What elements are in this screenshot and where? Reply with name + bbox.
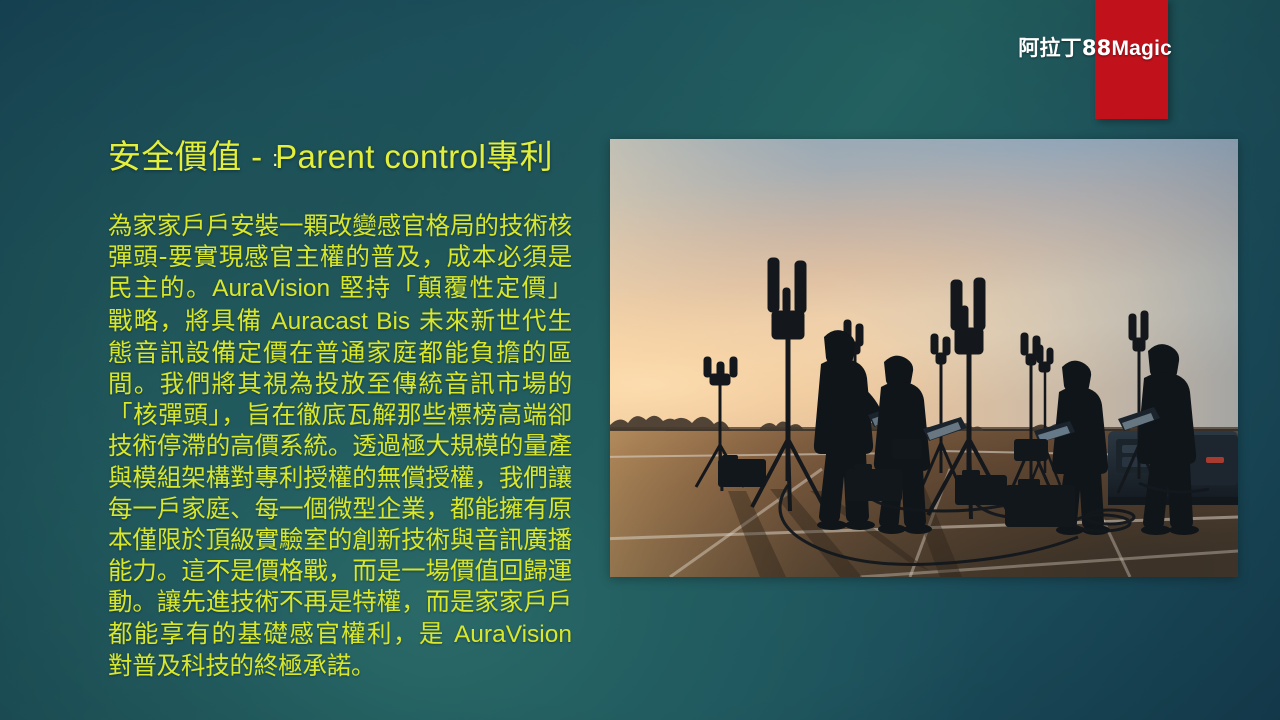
slide-canvas: 阿拉丁88Magic 安全價值 - :Parent control專利 為家家戶…	[0, 0, 1280, 720]
body-segment-5: AuraVision	[454, 621, 572, 648]
page-title-latin: Parent control	[275, 138, 486, 175]
body-paragraph: 為家家戶戶安裝一顆改變感官格局的技術核彈頭-要實現感官主權的普及，成本必須是民主…	[108, 210, 572, 681]
page-title-cjk-suffix: 專利	[486, 138, 553, 175]
body-segment-1: AuraVision	[212, 275, 330, 302]
page-title: 安全價值 - :Parent control專利	[108, 137, 628, 177]
brand-name-cjk: 阿拉丁88	[1018, 36, 1111, 60]
brand-name-latin: Magic	[1111, 37, 1172, 60]
body-segment-3: Auracast Bis	[271, 308, 410, 335]
page-title-cjk-prefix: 安全價值 -	[108, 138, 272, 175]
photo-illustration	[610, 139, 1238, 577]
brand-lockup: 阿拉丁88Magic	[1018, 32, 1172, 62]
title-dot-artifact: :	[272, 146, 275, 173]
body-segment-4: 未來新世代生態音訊設備定價在普通家庭都能負擔的區間。我們將其視為投放至傳統音訊市…	[108, 306, 572, 648]
slide-photo	[610, 139, 1238, 577]
body-segment-6: 對普及科技的終極承諾。	[108, 651, 375, 680]
